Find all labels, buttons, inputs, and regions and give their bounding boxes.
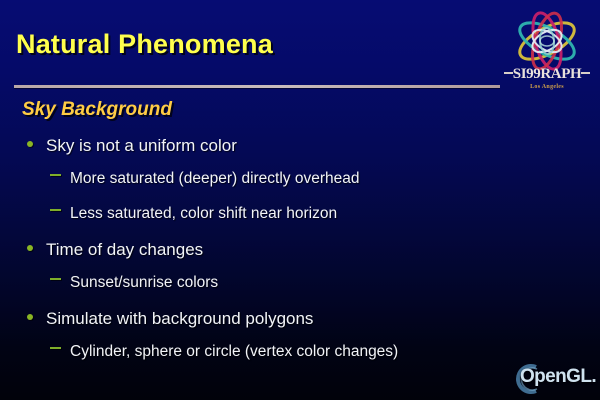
siggraph-logo: SI99RAPH Los Angeles bbox=[498, 8, 596, 100]
bullet-item: More saturated (deeper) directly overhea… bbox=[0, 170, 600, 205]
title-divider bbox=[14, 85, 500, 88]
bullet-text: Sky is not a uniform color bbox=[46, 136, 237, 156]
slide-subtitle: Sky Background bbox=[22, 99, 172, 121]
bullet-text: Less saturated, color shift near horizon bbox=[70, 205, 337, 223]
bullet-list: Sky is not a uniform colorMore saturated… bbox=[0, 136, 600, 378]
siggraph-wordmark-text: SI99RAPH bbox=[513, 66, 581, 82]
presentation-slide: Natural Phenomena Sky Background Sky is … bbox=[0, 0, 600, 400]
siggraph-wordmark: SI99RAPH bbox=[498, 66, 596, 83]
dash-glyph bbox=[50, 278, 61, 280]
dot-glyph bbox=[27, 141, 33, 147]
page-title: Natural Phenomena bbox=[16, 29, 273, 60]
bullet-item: Less saturated, color shift near horizon bbox=[0, 205, 600, 240]
bullet-text: Time of day changes bbox=[46, 240, 203, 260]
dash-glyph bbox=[50, 347, 61, 349]
bullet-item: Simulate with background polygons bbox=[0, 309, 600, 343]
dot-glyph bbox=[27, 245, 33, 251]
opengl-wordmark: OpenGL. bbox=[520, 366, 596, 388]
bullet-text: More saturated (deeper) directly overhea… bbox=[70, 170, 359, 188]
dash-glyph bbox=[50, 174, 61, 176]
bullet-text: Sunset/sunrise colors bbox=[70, 274, 218, 292]
bullet-text: Cylinder, sphere or circle (vertex color… bbox=[70, 343, 398, 361]
bullet-item: Sunset/sunrise colors bbox=[0, 274, 600, 309]
dot-glyph bbox=[27, 314, 33, 320]
bullet-item: Sky is not a uniform color bbox=[0, 136, 600, 170]
opengl-logo: OpenGL. bbox=[506, 362, 596, 396]
bullet-text: Simulate with background polygons bbox=[46, 309, 313, 329]
bullet-item: Time of day changes bbox=[0, 240, 600, 274]
wordmark-left-bar bbox=[504, 72, 513, 74]
dash-glyph bbox=[50, 209, 61, 211]
siggraph-sublabel: Los Angeles bbox=[498, 84, 596, 90]
siggraph-rings-icon bbox=[498, 8, 596, 74]
wordmark-right-bar bbox=[581, 72, 590, 74]
